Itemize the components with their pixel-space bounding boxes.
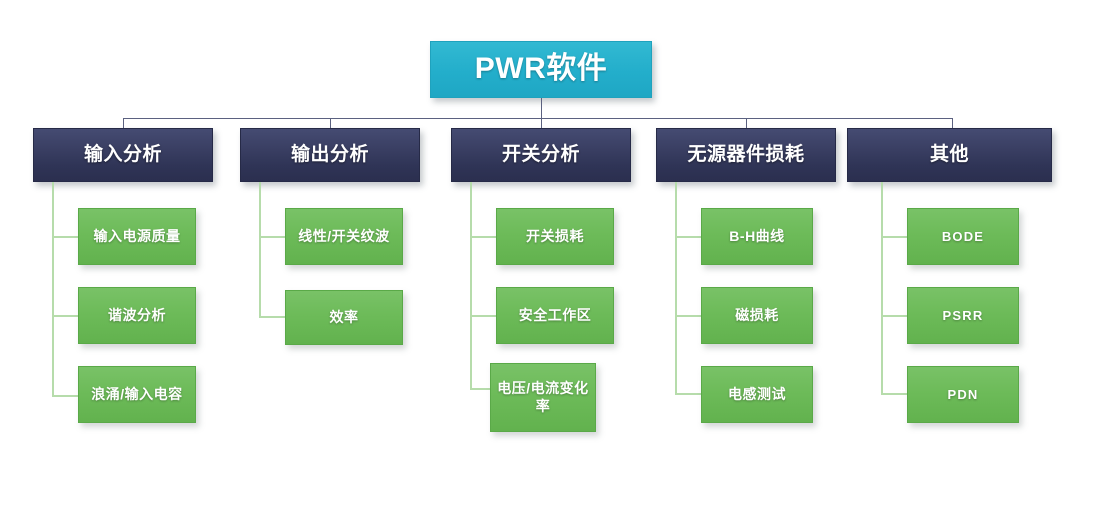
leaf-stub-2-1	[259, 236, 285, 238]
leaf-node-label: 磁损耗	[735, 307, 779, 324]
leaf-node-label: 电压/电流变化率	[497, 380, 589, 414]
leaf-stub-1-1	[52, 236, 78, 238]
category-node-label: 开关分析	[502, 143, 580, 166]
connector-drop-category-3	[541, 118, 542, 128]
category-node-passive-component-loss[interactable]: 无源器件损耗	[656, 128, 836, 182]
category-node-input-analysis[interactable]: 输入分析	[33, 128, 213, 182]
leaf-stub-5-1	[881, 236, 907, 238]
leaf-node-pdn[interactable]: PDN	[907, 366, 1019, 423]
leaf-node-label: 谐波分析	[108, 307, 166, 324]
leaf-node-input-power-quality[interactable]: 输入电源质量	[78, 208, 196, 265]
leaf-node-label: 安全工作区	[519, 307, 592, 324]
leaf-node-label: 开关损耗	[526, 228, 584, 245]
leaf-stub-2-2	[259, 316, 285, 318]
leaf-node-label: 效率	[330, 309, 359, 326]
category-node-output-analysis[interactable]: 输出分析	[240, 128, 420, 182]
leaf-node-label: BODE	[942, 229, 984, 245]
connector-drop-category-2	[330, 118, 331, 128]
leaf-stub-4-2	[675, 315, 701, 317]
connector-drop-category-4	[746, 118, 747, 128]
connector-root-stem	[541, 98, 542, 118]
leaf-spine-column-2	[259, 182, 261, 318]
category-node-other[interactable]: 其他	[847, 128, 1052, 182]
leaf-node-magnetic-loss[interactable]: 磁损耗	[701, 287, 813, 344]
leaf-node-inductance-test[interactable]: 电感测试	[701, 366, 813, 423]
leaf-node-label: 线性/开关纹波	[298, 228, 389, 245]
leaf-node-label: 输入电源质量	[94, 228, 181, 245]
category-node-label: 输出分析	[291, 143, 369, 166]
leaf-stub-1-3	[52, 395, 78, 397]
category-node-label: 输入分析	[84, 143, 162, 166]
leaf-stub-3-2	[470, 315, 496, 317]
connector-drop-category-5	[952, 118, 953, 128]
leaf-node-inrush-input-capacitance[interactable]: 浪涌/输入电容	[78, 366, 196, 423]
leaf-node-label: PSRR	[943, 308, 984, 324]
leaf-node-label: B-H曲线	[729, 228, 784, 245]
leaf-node-psrr[interactable]: PSRR	[907, 287, 1019, 344]
leaf-stub-4-1	[675, 236, 701, 238]
leaf-stub-4-3	[675, 393, 701, 395]
leaf-spine-column-4	[675, 182, 677, 395]
leaf-stub-5-2	[881, 315, 907, 317]
leaf-node-label: 电感测试	[728, 386, 786, 403]
leaf-node-label: PDN	[947, 387, 978, 403]
leaf-node-voltage-current-slew-rate[interactable]: 电压/电流变化率	[490, 363, 596, 432]
diagram-canvas: PWR软件 输入分析 输出分析 开关分析 无源器件损耗 其他 输入电源质量 谐波…	[0, 0, 1101, 509]
root-node-pwr-software[interactable]: PWR软件	[430, 41, 652, 98]
leaf-node-bode[interactable]: BODE	[907, 208, 1019, 265]
connector-drop-category-1	[123, 118, 124, 128]
leaf-spine-column-1	[52, 182, 54, 397]
leaf-stub-3-1	[470, 236, 496, 238]
leaf-stub-5-3	[881, 393, 907, 395]
leaf-stub-1-2	[52, 315, 78, 317]
category-node-switching-analysis[interactable]: 开关分析	[451, 128, 631, 182]
leaf-node-label: 浪涌/输入电容	[91, 386, 182, 403]
leaf-spine-column-5	[881, 182, 883, 395]
leaf-node-linear-switching-ripple[interactable]: 线性/开关纹波	[285, 208, 403, 265]
leaf-spine-column-3	[470, 182, 472, 390]
leaf-node-efficiency[interactable]: 效率	[285, 290, 403, 345]
leaf-node-switching-loss[interactable]: 开关损耗	[496, 208, 614, 265]
leaf-node-safe-operating-area[interactable]: 安全工作区	[496, 287, 614, 344]
leaf-node-harmonic-analysis[interactable]: 谐波分析	[78, 287, 196, 344]
leaf-node-bh-curve[interactable]: B-H曲线	[701, 208, 813, 265]
category-node-label: 其他	[930, 143, 969, 166]
root-node-label: PWR软件	[475, 51, 608, 88]
connector-horizontal-bus	[123, 118, 953, 119]
category-node-label: 无源器件损耗	[687, 143, 804, 166]
